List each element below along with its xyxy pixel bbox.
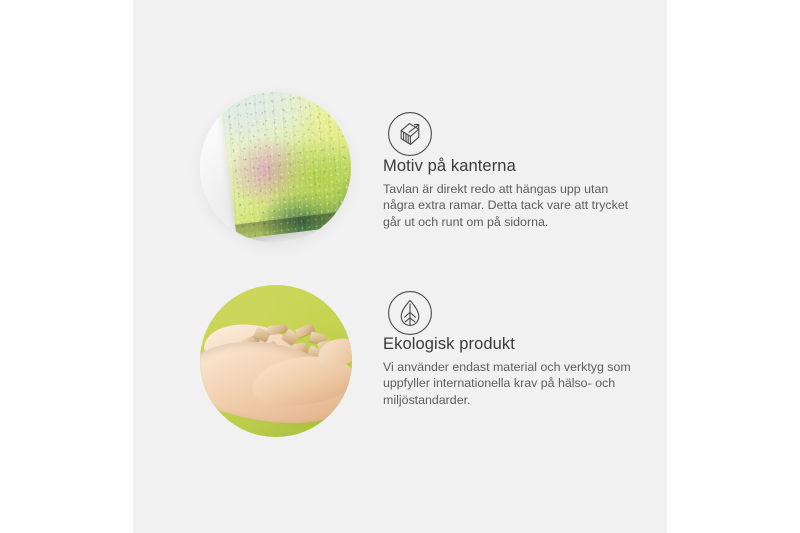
hands-holding-wood-chips-photo (200, 285, 352, 437)
canvas-print-corner-photo (200, 92, 351, 243)
feature-description: Tavlan är direkt redo att hängas upp uta… (383, 181, 635, 230)
feature-text-eco: Ekologisk produkt Vi använder endast mat… (383, 334, 635, 408)
canvas-corner (216, 92, 351, 240)
promo-graphic: Motiv på kanterna Tavlan är direkt redo … (0, 0, 800, 533)
feature-description: Vi använder endast material och verktyg … (383, 359, 635, 408)
feature-title: Motiv på kanterna (383, 156, 635, 176)
feature-text-edges: Motiv på kanterna Tavlan är direkt redo … (383, 156, 635, 230)
leaf-icon (387, 290, 433, 336)
content-panel (133, 0, 667, 533)
canvas-wrapped-edge-icon (387, 111, 433, 157)
feature-title: Ekologisk produkt (383, 334, 635, 354)
